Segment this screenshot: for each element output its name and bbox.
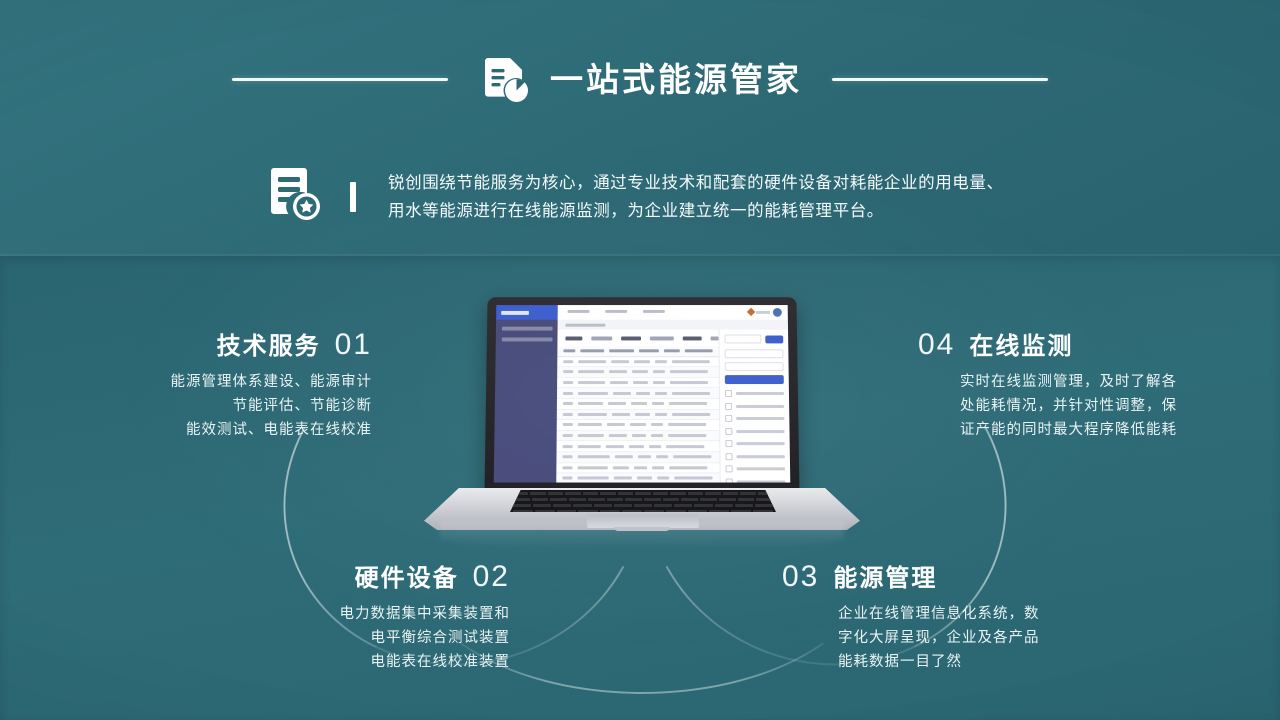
feature-title: 硬件设备 (355, 567, 459, 591)
table-row[interactable] (557, 357, 719, 367)
table-row[interactable] (557, 420, 720, 431)
avatar[interactable] (773, 308, 782, 317)
divider-right (832, 78, 1048, 81)
feature-heading: 03 能源管理 (782, 562, 1122, 592)
page-title: 一站式能源管家 (550, 63, 802, 96)
laptop-notch (614, 527, 670, 531)
app-side-panel (718, 330, 790, 483)
feature-title: 在线监测 (969, 335, 1073, 359)
search-row[interactable] (724, 335, 783, 344)
feature-line: 能效测试、电能表在线校准 (8, 418, 372, 442)
laptop-trackpad (587, 514, 699, 528)
document-pie-chart-icon (478, 50, 532, 109)
table-row[interactable] (557, 367, 719, 378)
data-table (556, 346, 720, 482)
table-row[interactable] (557, 388, 719, 399)
intro-accent-bar (350, 182, 356, 212)
table-row[interactable] (557, 378, 719, 389)
checkbox-item[interactable] (725, 415, 784, 422)
intro-block: 锐创围绕节能服务为核心，通过专业技术和配套的硬件设备对耗能企业的用电量、 用水等… (262, 162, 1004, 231)
feature-block-03: 03 能源管理 企业在线管理信息化系统，数 字化大屏呈现，企业及各产品 能耗数据… (782, 562, 1122, 674)
laptop-lid (484, 297, 799, 497)
feature-line: 电能表在线校准装置 (150, 650, 510, 674)
checkbox-item[interactable] (725, 453, 784, 460)
feature-number: 02 (473, 562, 510, 592)
table-row[interactable] (557, 399, 719, 410)
feature-title: 能源管理 (833, 567, 937, 591)
app-topbar (558, 305, 788, 321)
feature-block-01: 技术服务 01 能源管理体系建设、能源审计 节能评估、节能诊断 能效测试、电能表… (8, 330, 372, 442)
feature-line: 电力数据集中采集装置和 (150, 602, 510, 626)
feature-block-04: 04 在线监测 实时在线监测管理，及时了解各 处能耗情况，并针对性调整，保 证产… (918, 330, 1270, 442)
feature-title: 技术服务 (217, 335, 321, 359)
checkbox-item[interactable] (726, 478, 786, 483)
feature-number: 01 (335, 330, 372, 360)
feature-number: 04 (918, 330, 955, 360)
feature-line: 企业在线管理信息化系统，数 (838, 602, 1122, 626)
title-block: 一站式能源管家 (478, 50, 802, 109)
feature-line: 电平衡综合测试装置 (150, 626, 510, 650)
feature-body: 能源管理体系建设、能源审计 节能评估、节能诊断 能效测试、电能表在线校准 (8, 370, 372, 442)
table-row[interactable] (556, 452, 719, 463)
app-logo (496, 305, 558, 320)
filter-select-2[interactable] (725, 362, 784, 371)
feature-block-02: 硬件设备 02 电力数据集中采集装置和 电平衡综合测试装置 电能表在线校准装置 (150, 562, 510, 674)
feature-body: 实时在线监测管理，及时了解各 处能耗情况，并针对性调整，保 证产能的同时最大程序… (918, 370, 1270, 442)
divider-left (232, 78, 448, 81)
feature-line: 字化大屏呈现，企业及各产品 (838, 626, 1122, 650)
checkbox-item[interactable] (725, 390, 784, 397)
intro-line-1: 锐创围绕节能服务为核心，通过专业技术和配套的硬件设备对耗能企业的用电量、 (388, 169, 1004, 197)
slide-root: 一站式能源管家 锐创围绕节能服务为核心，通过专业技术和配套的硬件设备对耗能企业的… (0, 0, 1280, 720)
table-row[interactable] (557, 410, 719, 421)
sidebar-item-2[interactable] (502, 337, 553, 341)
feature-line: 能耗数据一目了然 (838, 650, 1122, 674)
laptop-screen (494, 305, 791, 482)
checkbox-item[interactable] (725, 428, 784, 435)
feature-number: 03 (782, 562, 819, 592)
feature-body: 电力数据集中采集装置和 电平衡综合测试装置 电能表在线校准装置 (150, 602, 510, 674)
primary-action-button[interactable] (725, 375, 784, 384)
feature-body: 企业在线管理信息化系统，数 字化大屏呈现，企业及各产品 能耗数据一目了然 (782, 602, 1122, 674)
intro-line-2: 用水等能源进行在线能源监测，为企业建立统一的能耗管理平台。 (388, 197, 1004, 225)
checkbox-item[interactable] (725, 402, 784, 409)
feature-line: 实时在线监测管理，及时了解各 (960, 370, 1270, 394)
app-main-panel (556, 330, 719, 483)
table-row[interactable] (557, 441, 720, 452)
search-button[interactable] (765, 335, 783, 343)
table-header-row (557, 346, 718, 356)
page-header: 一站式能源管家 (0, 46, 1280, 112)
checkbox-item[interactable] (725, 440, 784, 447)
table-row[interactable] (556, 463, 719, 474)
table-row[interactable] (556, 474, 719, 483)
user-name (756, 311, 770, 314)
table-row[interactable] (557, 431, 720, 442)
feature-heading: 技术服务 01 (8, 330, 372, 360)
feature-line: 证产能的同时最大程序降低能耗 (960, 418, 1270, 442)
feature-line: 能源管理体系建设、能源审计 (8, 370, 372, 394)
filter-bar[interactable] (557, 330, 718, 347)
intro-text: 锐创围绕节能服务为核心，通过专业技术和配套的硬件设备对耗能企业的用电量、 用水等… (388, 169, 1004, 225)
search-input[interactable] (724, 335, 761, 344)
filter-select-1[interactable] (725, 349, 784, 358)
feature-line: 节能评估、节能诊断 (8, 394, 372, 418)
feature-heading: 04 在线监测 (918, 330, 1270, 360)
app-sidebar[interactable] (494, 305, 558, 482)
feature-heading: 硬件设备 02 (150, 562, 510, 592)
laptop-mockup (424, 296, 860, 531)
checkbox-item[interactable] (726, 465, 786, 472)
laptop-keyboard (510, 490, 776, 512)
feature-line: 处能耗情况，并针对性调整，保 (960, 394, 1270, 418)
document-star-icon (262, 162, 326, 231)
sidebar-item-1[interactable] (502, 327, 553, 331)
